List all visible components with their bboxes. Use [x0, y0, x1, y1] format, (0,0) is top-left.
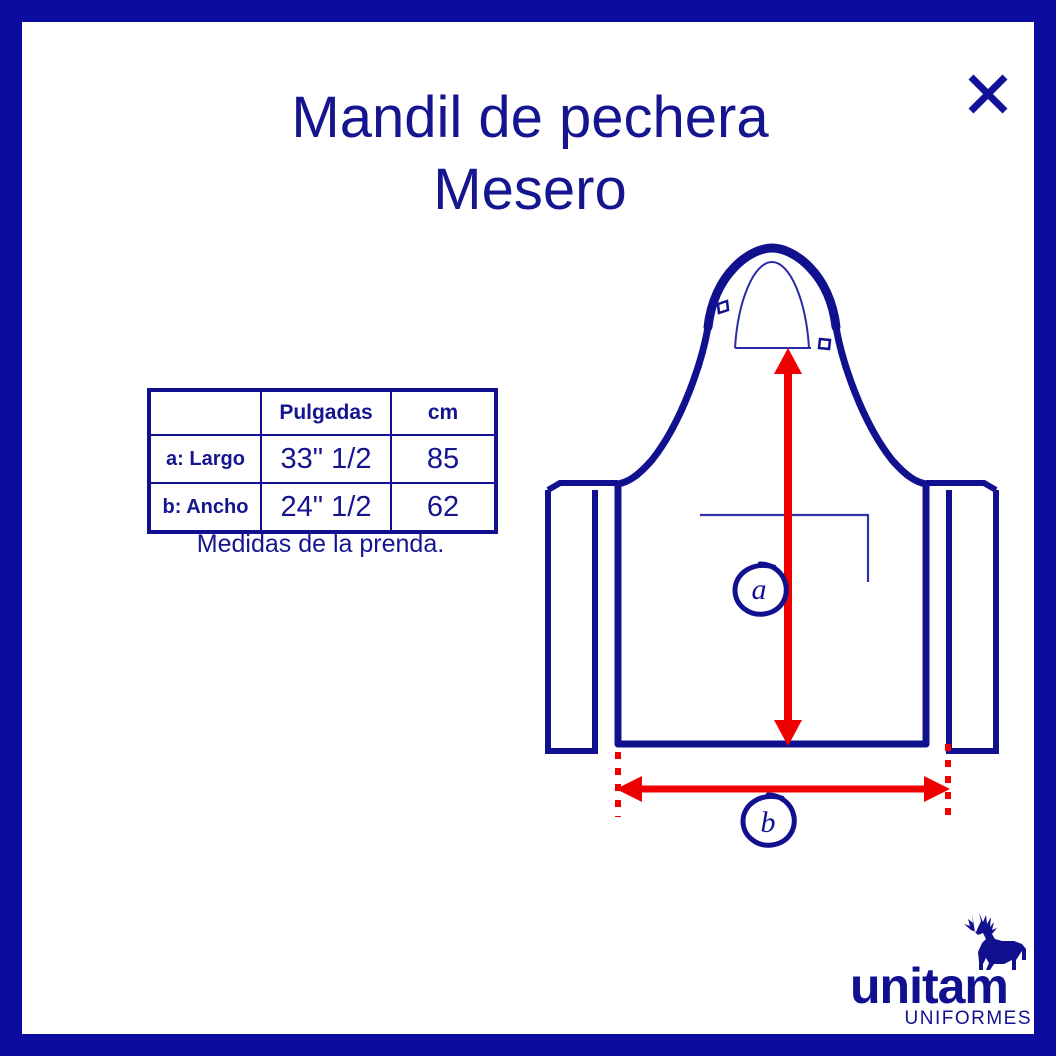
- ancho-cm-value: 62: [391, 483, 496, 532]
- title-line-1: Mandil de pechera: [160, 82, 900, 154]
- card-inner-surface: Mandil de pechera Mesero Pulgadas cm a: …: [22, 22, 1034, 1034]
- apron-diagram-svg: a b: [502, 222, 1042, 862]
- size-chart-card: Mandil de pechera Mesero Pulgadas cm a: …: [0, 0, 1056, 1056]
- table-caption: Medidas de la prenda.: [147, 530, 494, 559]
- largo-cm-value: 85: [391, 435, 496, 483]
- close-button[interactable]: [958, 64, 1018, 124]
- close-x-icon: [958, 64, 1018, 124]
- right-buckle-icon: [819, 339, 830, 349]
- table-corner-cell: [149, 390, 261, 435]
- left-buckle-icon: [718, 301, 728, 313]
- length-label-a: a: [735, 564, 786, 614]
- table-row: b: Ancho 24" 1/2 62: [149, 483, 496, 532]
- table-row: a: Largo 33" 1/2 85: [149, 435, 496, 483]
- table-header-cm: cm: [391, 390, 496, 435]
- logo-tagline: UNIFORMES: [850, 1008, 1032, 1030]
- apron-body-outline: [618, 327, 926, 744]
- neck-strap-inner-line: [735, 262, 809, 348]
- left-waist-tie-top: [548, 483, 618, 490]
- row-label-largo: a: Largo: [149, 435, 261, 483]
- ancho-inches-value: 24" 1/2: [261, 483, 391, 532]
- apron-diagram: a b: [502, 222, 1042, 862]
- neck-strap: [708, 248, 836, 327]
- width-arrow-head-left: [616, 776, 642, 802]
- right-waist-tie: [949, 490, 996, 751]
- left-waist-tie: [548, 490, 595, 751]
- brand-logo: unitam UNIFORMES: [850, 908, 1032, 1036]
- largo-inches-value: 33" 1/2: [261, 435, 391, 483]
- table-header-inches: Pulgadas: [261, 390, 391, 435]
- length-label-a-text: a: [752, 573, 767, 606]
- right-waist-tie-top: [926, 483, 996, 490]
- logo-wordmark: unitam: [850, 960, 1032, 1012]
- row-label-ancho: b: Ancho: [149, 483, 261, 532]
- measurements-table: Pulgadas cm a: Largo 33" 1/2 85 b: Ancho…: [147, 388, 494, 534]
- width-label-b-text: b: [761, 806, 776, 839]
- title-line-2: Mesero: [160, 154, 900, 226]
- width-label-b: b: [743, 795, 794, 845]
- page-title: Mandil de pechera Mesero: [160, 82, 900, 226]
- table-header-row: Pulgadas cm: [149, 390, 496, 435]
- length-arrow-head-top: [774, 348, 802, 374]
